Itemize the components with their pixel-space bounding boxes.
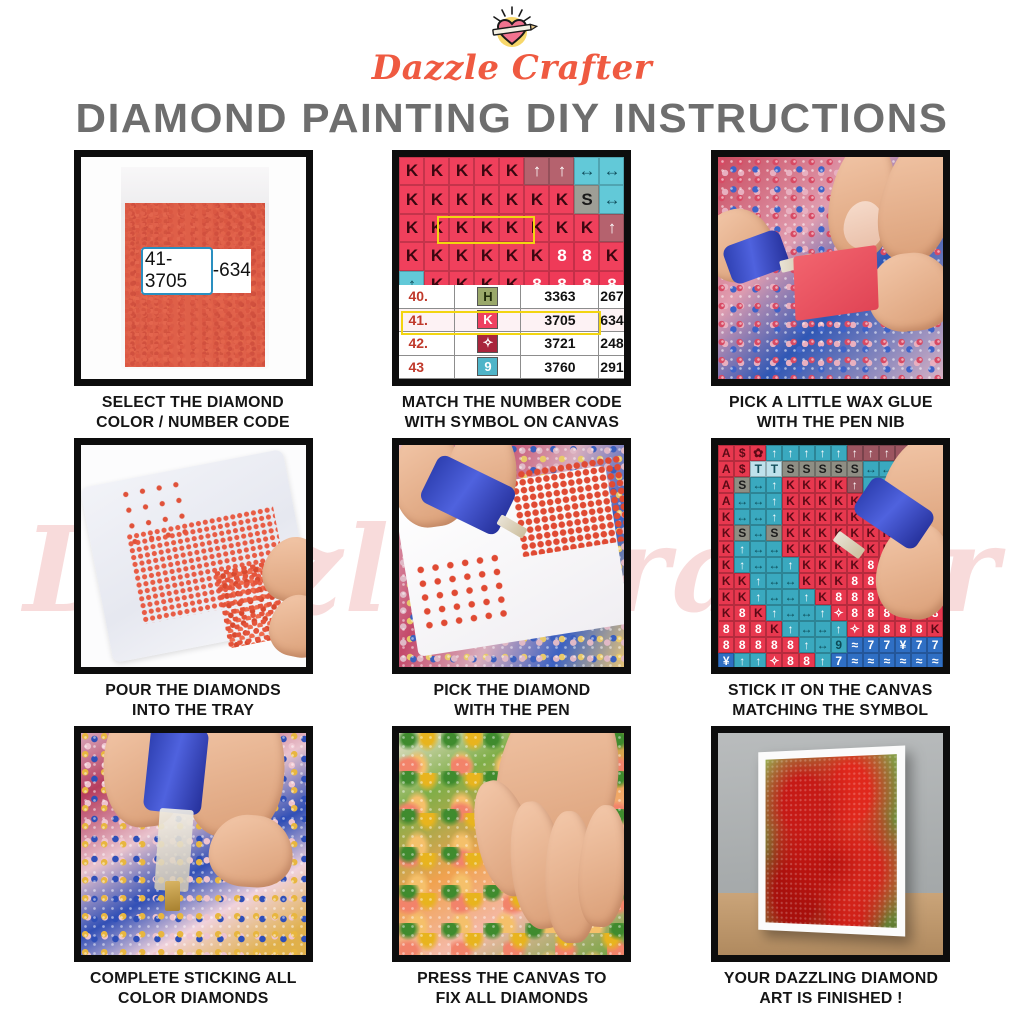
caption-line-1: YOUR DAZZLING DIAMOND: [724, 969, 938, 989]
diamond-tray-photo: [74, 438, 313, 674]
chart-cell: K: [815, 541, 831, 557]
diamond-bag-photo: 41-3705-634: [74, 150, 313, 386]
diamonds-rows: [509, 455, 631, 557]
step-7: COMPLETE STICKING ALL COLOR DIAMONDS: [62, 726, 325, 1010]
grid-cell: K: [424, 157, 449, 185]
chart-cell: ↑: [750, 589, 766, 605]
chart-cell: K: [782, 493, 798, 509]
chart-cell: ≈: [847, 637, 863, 653]
chart-cell: ¥: [895, 637, 911, 653]
step-5: PICK THE DIAMOND WITH THE PEN: [381, 438, 644, 722]
step-8-caption: PRESS THE CANVAS TO FIX ALL DIAMONDS: [417, 969, 607, 1010]
chart-cell: ≈: [879, 653, 895, 669]
caption-line-1: SELECT THE DIAMOND: [97, 393, 291, 413]
chart-cell: ↑: [799, 637, 815, 653]
chart-cell: ↔: [750, 493, 766, 509]
chart-cell: ↔: [782, 589, 798, 605]
chart-cell: S: [815, 461, 831, 477]
chart-cell: ✧: [831, 605, 847, 621]
chart-cell: S: [831, 461, 847, 477]
caption-line-2: WITH SYMBOL ON CANVAS: [402, 413, 622, 433]
legend-code: 3760: [521, 356, 599, 379]
chart-cell: K: [718, 557, 734, 573]
grid-cell: K: [449, 157, 474, 185]
chart-cell: 8: [847, 573, 863, 589]
chart-cell: K: [782, 509, 798, 525]
chart-cell: ¥: [718, 653, 734, 669]
caption-line-1: STICK IT ON THE CANVAS: [728, 681, 932, 701]
legend-index: 42.: [399, 332, 455, 355]
chart-cell: K: [718, 589, 734, 605]
chart-cell: K: [799, 525, 815, 541]
step-8: PRESS THE CANVAS TO FIX ALL DIAMONDS: [381, 726, 644, 1010]
legend-row: 4393760291: [399, 356, 624, 380]
legend-code: 3363: [521, 285, 599, 308]
grid-cell: K: [524, 242, 549, 270]
legend-index: 40.: [399, 285, 455, 308]
caption-line-2: FIX ALL DIAMONDS: [417, 989, 607, 1009]
grid-cell: K: [499, 214, 524, 242]
chart-cell: A: [718, 493, 734, 509]
grid-cell: K: [549, 185, 574, 213]
grid-cell: K: [524, 185, 549, 213]
step-6-caption: STICK IT ON THE CANVAS MATCHING THE SYMB…: [728, 681, 932, 722]
grid-cell: K: [499, 242, 524, 270]
caption-line-2: WITH THE PEN: [433, 701, 590, 721]
grid-cell: ↑: [524, 157, 549, 185]
chart-cell: ↔: [750, 525, 766, 541]
chart-cell: ↑: [734, 557, 750, 573]
chart-cell: ↔: [863, 461, 879, 477]
chart-cell: S: [734, 477, 750, 493]
press-canvas-photo: [392, 726, 631, 962]
chart-cell: ↔: [766, 557, 782, 573]
grid-cell: S: [574, 185, 599, 213]
chart-cell: T: [750, 461, 766, 477]
step-6: A$✿↑↑↑↑↑↑↑↑↑KKA$TTSSSSS↔↔SKKAS↔↑KKKK↑↔↔↔…: [699, 438, 962, 722]
chart-cell: 8: [750, 621, 766, 637]
chart-cell: S: [782, 461, 798, 477]
chart-cell: ↑: [831, 445, 847, 461]
chart-cell: ✧: [766, 653, 782, 669]
grid-cell: K: [524, 214, 549, 242]
step-2: KKKKK↑↑↔↔KKKKKKKS↔KKKKKKKK↑KKKKKK88K↑KKK…: [381, 150, 644, 434]
chart-cell: K: [718, 509, 734, 525]
chart-cell: K: [718, 525, 734, 541]
chart-cell: 8: [847, 589, 863, 605]
chart-cell: ≈: [863, 653, 879, 669]
chart-cell: 7: [927, 637, 943, 653]
canvas-chart-and-legend-photo: KKKKK↑↑↔↔KKKKKKKS↔KKKKKKKK↑KKKKKK88K↑KKK…: [392, 150, 631, 386]
chart-cell: $: [734, 445, 750, 461]
caption-line-1: POUR THE DIAMONDS: [106, 681, 282, 701]
grid-cell: 8: [574, 242, 599, 270]
chart-cell: K: [734, 589, 750, 605]
legend-symbol: H: [455, 285, 521, 308]
caption-line-1: PICK A LITTLE WAX GLUE: [729, 393, 933, 413]
chart-cell: K: [718, 605, 734, 621]
chart-cell: K: [831, 509, 847, 525]
bag-code-label: 41-3705-634: [141, 249, 251, 293]
chart-cell: 7: [863, 637, 879, 653]
grid-cell: ↔: [574, 157, 599, 185]
color-legend-table: 40.H336326741.K370563442.✧37212484393760…: [399, 285, 624, 379]
chart-cell: K: [847, 557, 863, 573]
chart-cell: K: [799, 493, 815, 509]
chart-cell: ↔: [782, 605, 798, 621]
chart-cell: ↑: [831, 621, 847, 637]
chart-cell: 7: [879, 637, 895, 653]
brand-logo: Dazzle Crafter: [0, 6, 1024, 88]
step-7-caption: COMPLETE STICKING ALL COLOR DIAMONDS: [90, 969, 297, 1010]
chart-cell: K: [750, 605, 766, 621]
chart-cell: ↑: [879, 445, 895, 461]
chart-cell: 8: [734, 637, 750, 653]
grid-cell: K: [424, 185, 449, 213]
grid-cell: K: [399, 185, 424, 213]
grid-cell: K: [424, 214, 449, 242]
chart-cell: 8: [782, 653, 798, 669]
chart-cell: 8: [831, 589, 847, 605]
chart-cell: K: [782, 477, 798, 493]
step-3-caption: PICK A LITTLE WAX GLUE WITH THE PEN NIB: [729, 393, 933, 434]
caption-line-2: COLOR DIAMONDS: [90, 989, 297, 1009]
grid-cell: ↔: [599, 157, 624, 185]
step-2-caption: MATCH THE NUMBER CODE WITH SYMBOL ON CAN…: [402, 393, 622, 434]
chart-cell: ↔: [782, 573, 798, 589]
chart-cell: ↑: [734, 541, 750, 557]
chart-cell: ≈: [927, 653, 943, 669]
wax-glue-pen-photo: [711, 150, 950, 386]
chart-cell: 8: [782, 637, 798, 653]
bag-code-highlight: 41-3705: [141, 247, 213, 295]
chart-cell: 8: [718, 621, 734, 637]
legend-code: 3721: [521, 332, 599, 355]
chart-cell: K: [718, 541, 734, 557]
chart-cell: ≈: [895, 653, 911, 669]
instruction-steps-grid: 41-3705-634 SELECT THE DIAMOND COLOR / N…: [62, 150, 962, 1010]
legend-count: 248: [599, 332, 624, 355]
chart-cell: S: [799, 461, 815, 477]
chart-cell: ↔: [799, 621, 815, 637]
chart-cell: K: [831, 477, 847, 493]
chart-cell: 8: [718, 637, 734, 653]
chart-cell: K: [815, 509, 831, 525]
chart-cell: ↑: [815, 653, 831, 669]
chart-cell: ↑: [863, 445, 879, 461]
chart-cell: 9: [831, 637, 847, 653]
chart-cell: K: [831, 493, 847, 509]
grid-cell: K: [549, 214, 574, 242]
chart-cell: 8: [911, 621, 927, 637]
completed-sticking-photo: [74, 726, 313, 962]
chart-cell: ↔: [750, 557, 766, 573]
legend-row: 41.K3705634: [399, 309, 624, 333]
chart-cell: K: [831, 557, 847, 573]
grid-cell: K: [474, 185, 499, 213]
chart-cell: ↑: [734, 653, 750, 669]
chart-cell: ↑: [782, 445, 798, 461]
chart-cell: ↔: [799, 605, 815, 621]
brand-name: Dazzle Crafter: [372, 48, 652, 88]
caption-line-2: ART IS FINISHED !: [724, 989, 938, 1009]
caption-line-1: PICK THE DIAMOND: [433, 681, 590, 701]
caption-line-2: WITH THE PEN NIB: [729, 413, 933, 433]
chart-cell: ↑: [766, 605, 782, 621]
step-9-caption: YOUR DAZZLING DIAMOND ART IS FINISHED !: [724, 969, 938, 1010]
chart-cell: S: [847, 461, 863, 477]
grid-cell: ↑: [549, 157, 574, 185]
grid-cell: K: [474, 242, 499, 270]
chart-cell: K: [815, 525, 831, 541]
legend-count: 267: [599, 285, 624, 308]
chart-cell: 8: [766, 637, 782, 653]
grid-cell: K: [574, 214, 599, 242]
legend-symbol: ✧: [455, 332, 521, 355]
chart-cell: S: [766, 525, 782, 541]
blue-pen-icon: [142, 726, 209, 816]
chart-cell: ↑: [766, 509, 782, 525]
caption-line-2: MATCHING THE SYMBOL: [728, 701, 932, 721]
legend-row: 40.H3363267: [399, 285, 624, 309]
chart-cell: K: [782, 541, 798, 557]
grid-cell: K: [399, 157, 424, 185]
chart-cell: A: [718, 445, 734, 461]
chart-cell: 8: [734, 621, 750, 637]
pen-nib-icon: [165, 881, 180, 911]
chart-cell: 8: [879, 621, 895, 637]
grid-cell: K: [474, 214, 499, 242]
page-title: DIAMOND PAINTING DIY INSTRUCTIONS: [0, 95, 1024, 142]
stick-diamond-on-canvas-photo: A$✿↑↑↑↑↑↑↑↑↑KKA$TTSSSSS↔↔SKKAS↔↑KKKK↑↔↔↔…: [711, 438, 950, 674]
legend-index: 41.: [399, 309, 455, 332]
chart-cell: ✿: [750, 445, 766, 461]
grid-cell: K: [424, 242, 449, 270]
chart-cell: ↔: [750, 541, 766, 557]
chart-cell: K: [815, 493, 831, 509]
chart-cell: 8: [734, 605, 750, 621]
step-4-caption: POUR THE DIAMONDS INTO THE TRAY: [106, 681, 282, 722]
chart-cell: K: [799, 557, 815, 573]
caption-line-1: MATCH THE NUMBER CODE: [402, 393, 622, 413]
chart-cell: ↑: [847, 477, 863, 493]
step-4: POUR THE DIAMONDS INTO THE TRAY: [62, 438, 325, 722]
canvas-symbol-grid: KKKKK↑↑↔↔KKKKKKKS↔KKKKKKKK↑KKKKKK88K↑KKK…: [399, 157, 624, 299]
grid-cell: K: [449, 185, 474, 213]
grid-cell: ↑: [599, 214, 624, 242]
chart-cell: ↔: [734, 509, 750, 525]
chart-cell: 8: [799, 653, 815, 669]
chart-cell: K: [815, 589, 831, 605]
grid-cell: K: [449, 242, 474, 270]
caption-line-2: INTO THE TRAY: [106, 701, 282, 721]
chart-cell: K: [734, 573, 750, 589]
grid-cell: K: [449, 214, 474, 242]
chart-cell: ↑: [815, 445, 831, 461]
step-1: 41-3705-634 SELECT THE DIAMOND COLOR / N…: [62, 150, 325, 434]
chart-cell: ↑: [766, 445, 782, 461]
chart-cell: ↔: [815, 637, 831, 653]
chart-cell: 8: [863, 605, 879, 621]
wax-glue-square: [793, 245, 878, 321]
poppy-diamond-art: [766, 754, 897, 928]
chart-cell: K: [766, 621, 782, 637]
chart-cell: 8: [750, 637, 766, 653]
page-header: Dazzle Crafter DIAMOND PAINTING DIY INST…: [0, 0, 1024, 142]
chart-cell: T: [766, 461, 782, 477]
caption-line-1: PRESS THE CANVAS TO: [417, 969, 607, 989]
chart-cell: 8: [863, 621, 879, 637]
chart-cell: K: [815, 477, 831, 493]
chart-cell: ↑: [847, 445, 863, 461]
pick-diamond-with-pen-photo: [392, 438, 631, 674]
grid-cell: K: [399, 242, 424, 270]
caption-line-1: COMPLETE STICKING ALL: [90, 969, 297, 989]
chart-cell: ↑: [750, 573, 766, 589]
bag-code-suffix: -634: [213, 260, 251, 282]
legend-index: 43: [399, 356, 455, 379]
picture-frame: [758, 745, 905, 936]
chart-cell: K: [815, 573, 831, 589]
chart-cell: K: [718, 573, 734, 589]
chart-cell: K: [799, 477, 815, 493]
step-5-caption: PICK THE DIAMOND WITH THE PEN: [433, 681, 590, 722]
chart-cell: ↔: [734, 493, 750, 509]
grid-cell: K: [499, 185, 524, 213]
legend-count: 634: [599, 309, 624, 332]
chart-cell: ≈: [847, 653, 863, 669]
step-9: YOUR DAZZLING DIAMOND ART IS FINISHED !: [699, 726, 962, 1010]
legend-count: 291: [599, 356, 624, 379]
chart-cell: ✧: [847, 621, 863, 637]
chart-cell: $: [734, 461, 750, 477]
chart-cell: ↑: [799, 589, 815, 605]
grid-cell: K: [599, 242, 624, 270]
chart-cell: A: [718, 461, 734, 477]
chart-cell: ↑: [750, 653, 766, 669]
chart-cell: K: [782, 525, 798, 541]
step-3: PICK A LITTLE WAX GLUE WITH THE PEN NIB: [699, 150, 962, 434]
chart-cell: ↑: [782, 621, 798, 637]
chart-cell: K: [831, 573, 847, 589]
grid-cell: ↔: [599, 185, 624, 213]
chart-cell: 8: [847, 605, 863, 621]
chart-cell: ↔: [766, 541, 782, 557]
chart-cell: A: [718, 477, 734, 493]
chart-cell: ↑: [815, 605, 831, 621]
chart-cell: 7: [911, 637, 927, 653]
chart-cell: ↔: [750, 477, 766, 493]
chart-cell: ↔: [750, 509, 766, 525]
chart-cell: K: [799, 573, 815, 589]
legend-symbol: K: [455, 309, 521, 332]
chart-cell: ↑: [766, 477, 782, 493]
chart-cell: ↔: [766, 589, 782, 605]
legend-symbol: 9: [455, 356, 521, 379]
finished-framed-art-photo: [711, 726, 950, 962]
grid-cell: K: [499, 157, 524, 185]
legend-row: 42.✧3721248: [399, 332, 624, 356]
chart-cell: K: [799, 541, 815, 557]
chart-cell: 7: [831, 653, 847, 669]
grid-cell: K: [474, 157, 499, 185]
chart-cell: S: [734, 525, 750, 541]
chart-cell: K: [799, 509, 815, 525]
legend-code: 3705: [521, 309, 599, 332]
chart-cell: K: [863, 541, 879, 557]
chart-cell: K: [815, 557, 831, 573]
grid-cell: 8: [549, 242, 574, 270]
chart-cell: ↑: [799, 445, 815, 461]
chart-cell: ↑: [766, 493, 782, 509]
step-1-caption: SELECT THE DIAMOND COLOR / NUMBER CODE: [97, 393, 291, 434]
chart-cell: ↔: [815, 621, 831, 637]
chart-cell: ↑: [782, 557, 798, 573]
chart-cell: ≈: [911, 653, 927, 669]
chart-cell: K: [927, 621, 943, 637]
caption-line-2: COLOR / NUMBER CODE: [97, 413, 291, 433]
grid-cell: K: [399, 214, 424, 242]
heart-with-pencil-sunburst-icon: [481, 6, 543, 52]
chart-cell: 8: [895, 621, 911, 637]
chart-cell: ↔: [766, 573, 782, 589]
